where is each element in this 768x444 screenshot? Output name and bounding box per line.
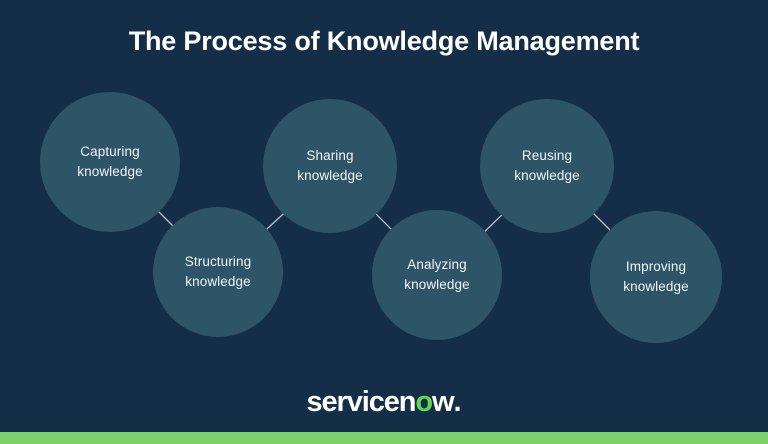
process-node-label-sharing: Sharing knowledge [285, 146, 374, 186]
logo-trademark-dot: . [453, 386, 461, 418]
process-node-capturing: Capturing knowledge [40, 92, 180, 232]
logo-wordmark: servicenow. [306, 385, 461, 419]
process-diagram: Capturing knowledgeStructuring knowledge… [0, 0, 768, 444]
process-node-label-improving: Improving knowledge [611, 257, 700, 297]
process-node-reusing: Reusing knowledge [480, 99, 614, 233]
process-node-structuring: Structuring knowledge [153, 207, 283, 337]
process-node-label-reusing: Reusing knowledge [502, 146, 591, 186]
servicenow-logo: servicenow. [0, 385, 768, 419]
infographic-canvas: The Process of Knowledge Management Capt… [0, 0, 768, 444]
bottom-accent-bar [0, 432, 768, 444]
process-node-label-structuring: Structuring knowledge [173, 252, 263, 292]
logo-o-glyph: o [415, 386, 432, 418]
logo-text-suffix: w [432, 386, 453, 418]
process-node-label-analyzing: Analyzing knowledge [392, 255, 481, 295]
process-node-analyzing: Analyzing knowledge [372, 210, 502, 340]
process-node-improving: Improving knowledge [590, 211, 722, 343]
logo-text-prefix: servicen [306, 386, 415, 418]
process-node-label-capturing: Capturing knowledge [65, 142, 154, 182]
process-node-sharing: Sharing knowledge [263, 99, 397, 233]
